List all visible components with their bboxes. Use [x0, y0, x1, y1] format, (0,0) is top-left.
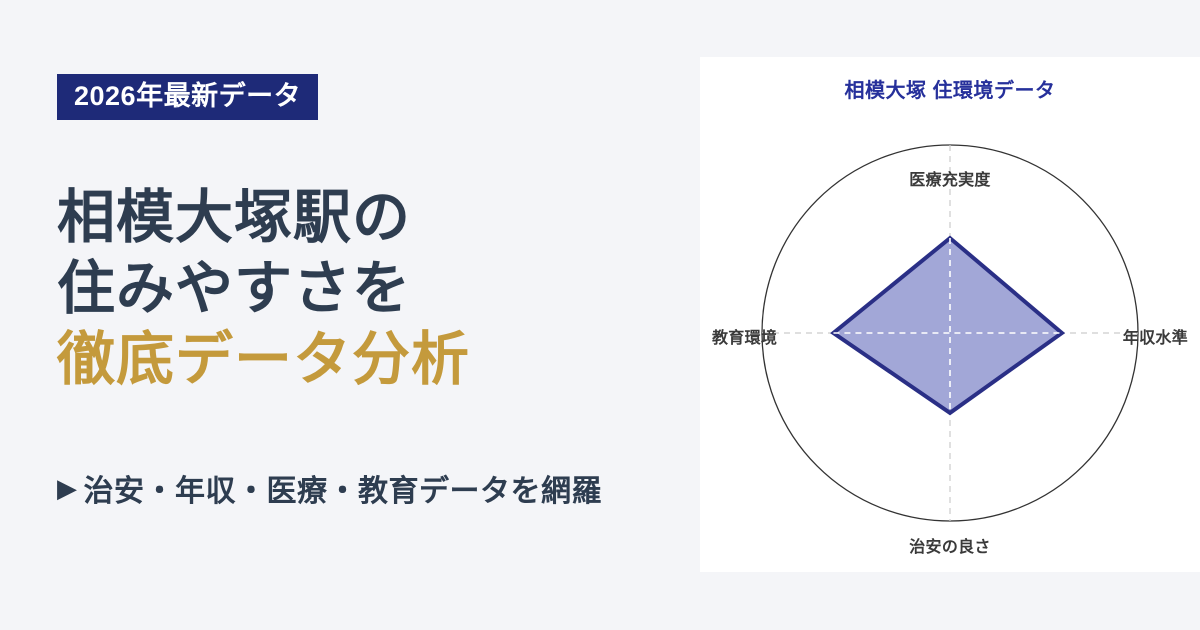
- radar-data-polygon: [833, 238, 1062, 413]
- page-title: 相模大塚駅の 住みやすさを 徹底データ分析: [57, 183, 697, 395]
- radar-chart-svg: [700, 57, 1200, 572]
- triangle-bullet-icon: ▶: [57, 475, 78, 501]
- radar-axis-label-income: 年収水準: [1123, 324, 1188, 348]
- radar-axis-label-medical: 医療充実度: [700, 166, 1200, 190]
- page-title-line-2: 住みやすさを: [57, 254, 697, 325]
- ogp-card: 2026年最新データ 相模大塚駅の 住みやすさを 徹底データ分析 ▶ 治安・年収…: [0, 0, 1200, 630]
- subheadline-text: 治安・年収・医療・教育データを網羅: [84, 466, 603, 510]
- page-title-line-3-accent: 徹底データ分析: [57, 325, 697, 396]
- radar-axis-label-education: 教育環境: [712, 324, 777, 348]
- page-title-line-1: 相模大塚駅の: [57, 183, 697, 254]
- subheadline: ▶ 治安・年収・医療・教育データを網羅: [57, 466, 602, 510]
- radar-chart-panel: 相模大塚 住環境データ 医療充実度 年収水準 治安の良さ 教育環境: [700, 57, 1200, 572]
- radar-axis-label-safety: 治安の良さ: [700, 533, 1200, 557]
- headline-column: 2026年最新データ 相模大塚駅の 住みやすさを 徹底データ分析 ▶ 治安・年収…: [57, 0, 697, 630]
- date-badge: 2026年最新データ: [57, 74, 318, 120]
